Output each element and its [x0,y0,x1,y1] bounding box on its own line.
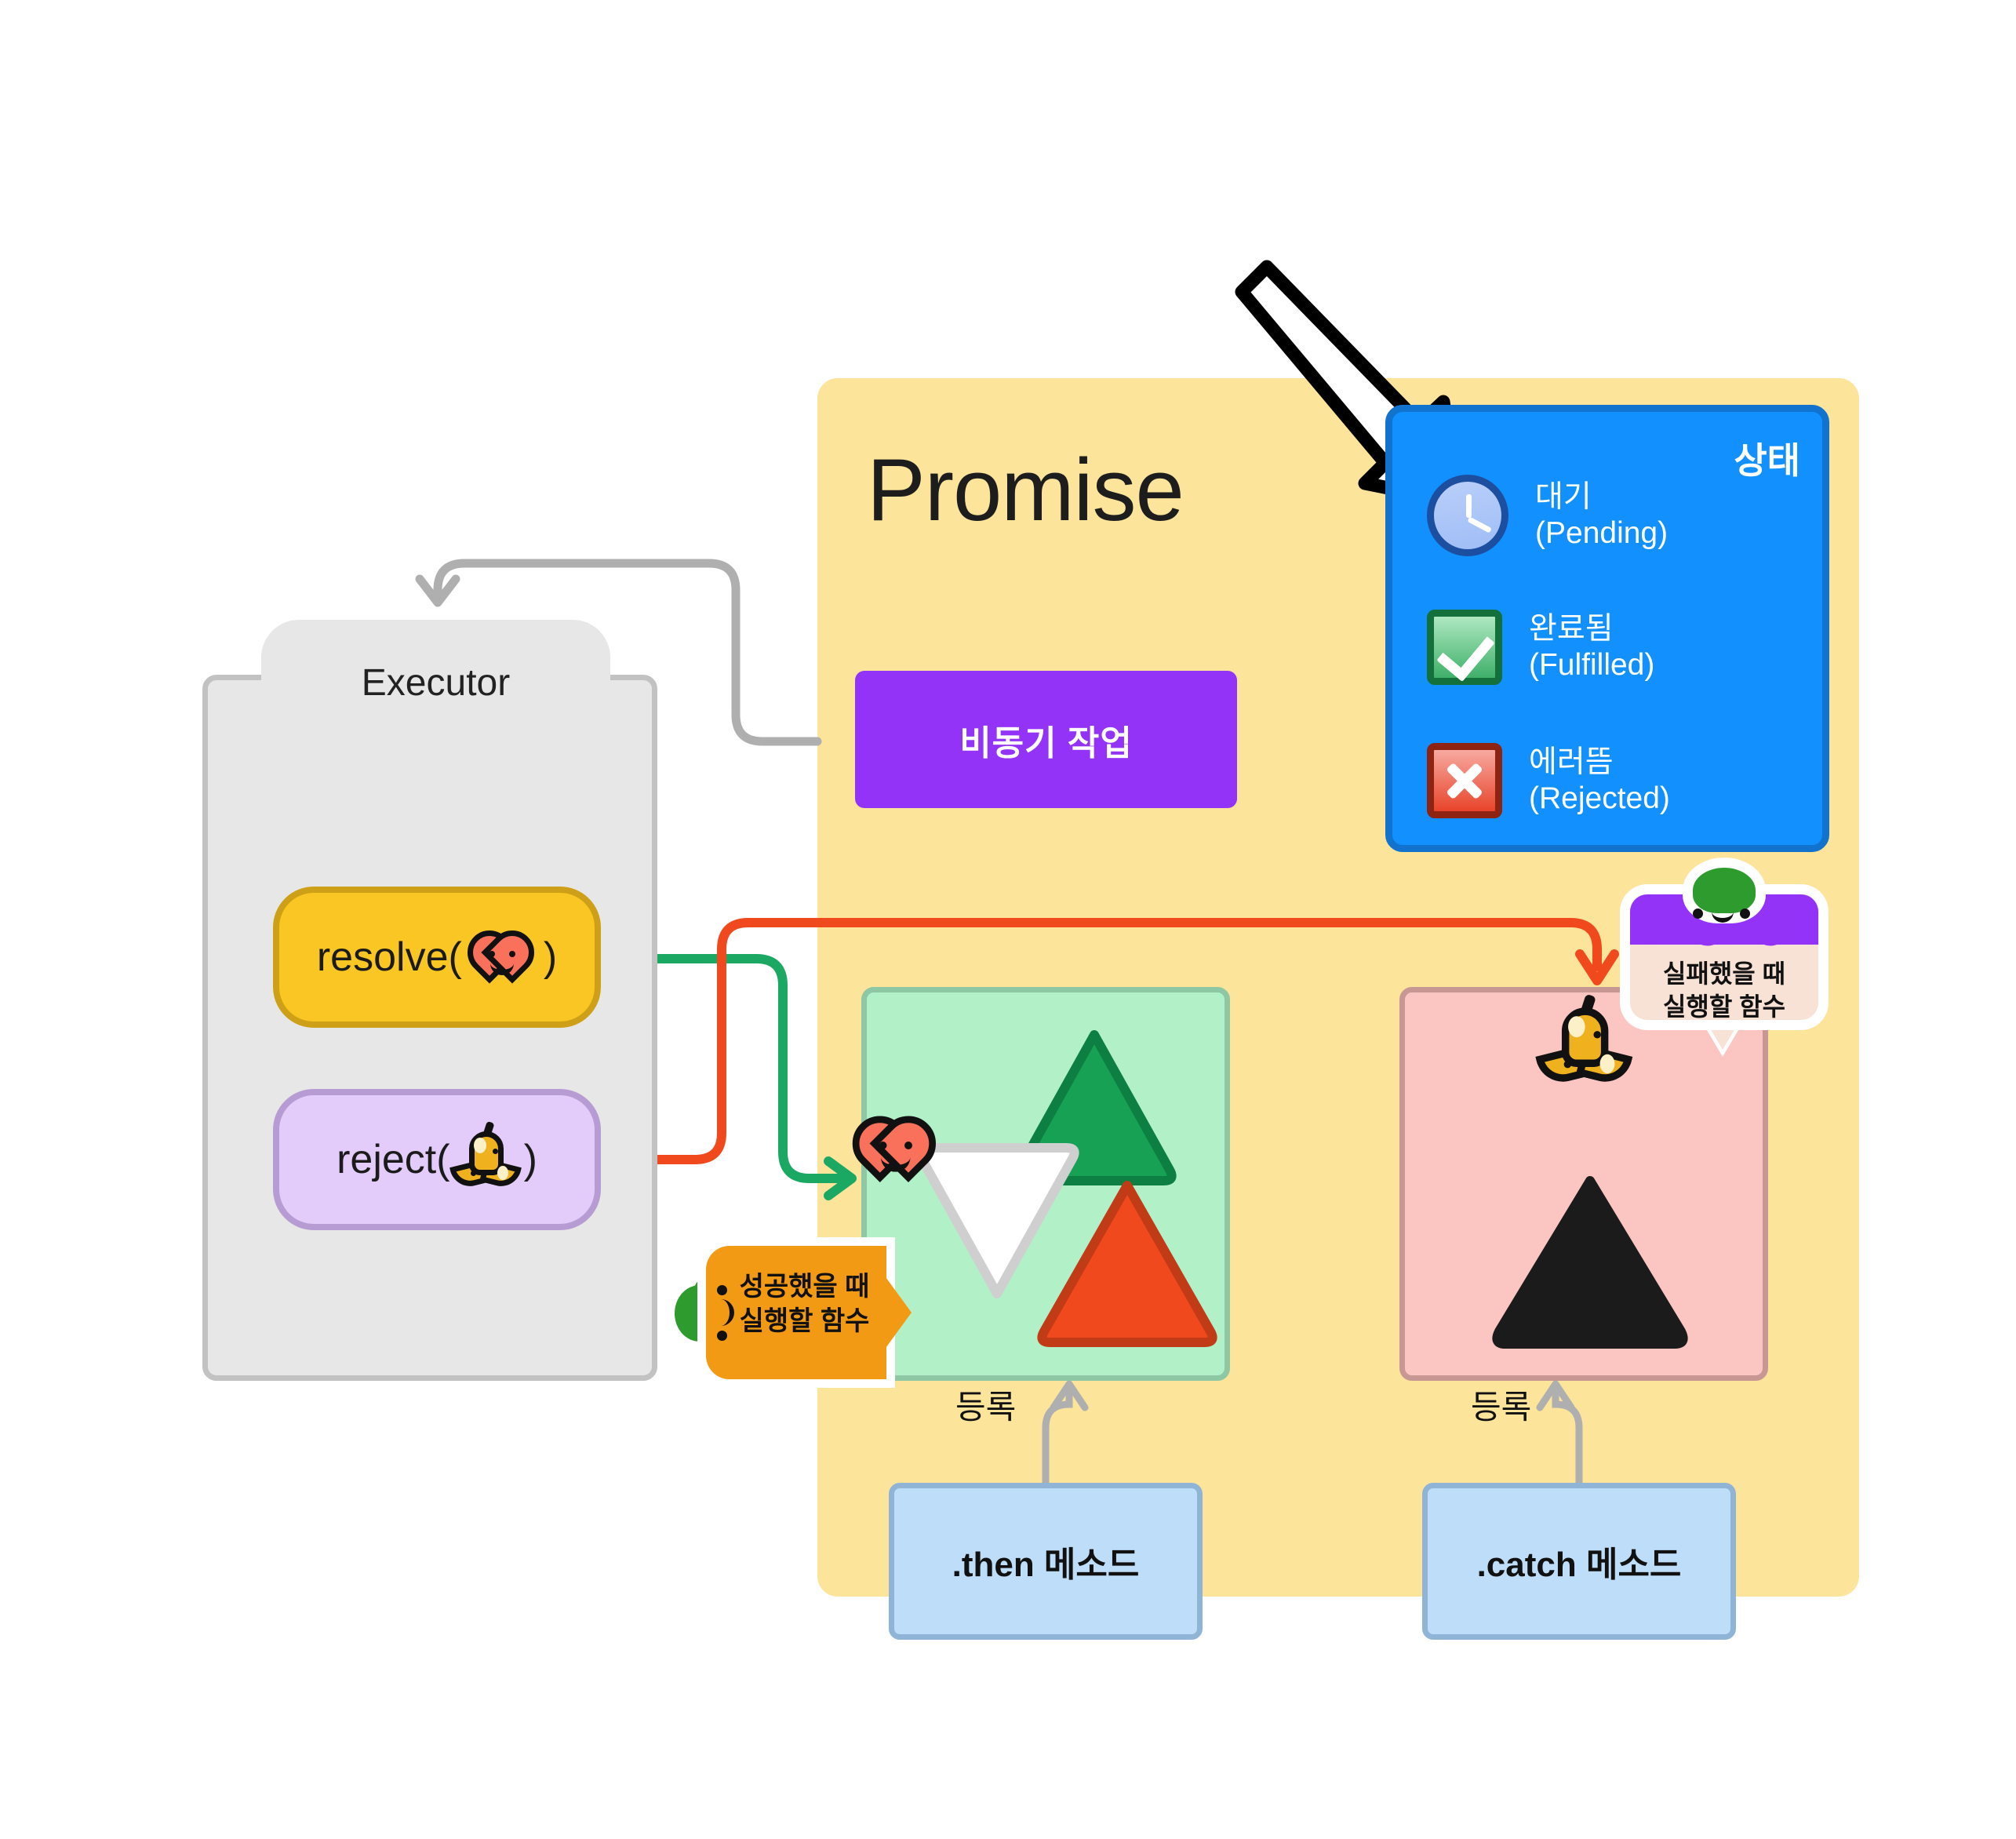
resolve-button[interactable]: resolve( ) [273,887,601,1028]
resolve-prefix: resolve( [317,934,462,981]
then-register-label: 등록 [955,1381,1016,1429]
heart-emoji [852,1109,942,1191]
clock-icon [1427,475,1508,556]
state-pending-text: 대기 (Pending) [1535,479,1668,552]
success-callout: 성공했을 때 실행할 함수 [689,1246,901,1379]
async-task-label: 비동기 작업 [959,715,1133,765]
banana-peel-emoji [453,1122,521,1197]
executor-tab: Executor [261,620,610,745]
state-row-fulfilled: 완료됨 (Fulfilled) [1427,600,1819,694]
executor-body [202,675,657,1381]
red-triangle-up-icon [1033,1174,1221,1352]
black-triangle-up-icon [1488,1171,1692,1353]
failure-callout-text: 실패했을 때 실행할 함수 [1638,957,1810,1023]
resolve-suffix: ) [544,934,557,981]
page-title: Promise [867,439,1353,541]
catch-method-box[interactable]: .catch 메소드 [1422,1483,1736,1640]
failure-callout: 실패했을 때 실행할 함수 [1630,869,1818,1034]
reject-prefix: reject( [337,1136,449,1183]
catch-method-label: .catch 메소드 [1477,1536,1682,1586]
turnip-face-icon [1693,907,1756,923]
banana-peel-emoji [1541,995,1632,1097]
state-row-pending: 대기 (Pending) [1427,468,1819,563]
state-fulfilled-text: 완료됨 (Fulfilled) [1529,611,1654,683]
diagram-canvas: Promise 비동기 작업 상태 대기 (Pending) 완료됨 (Fulf… [0,0,2016,1839]
executor-tab-label: Executor [362,661,510,705]
then-method-box[interactable]: .then 메소드 [889,1483,1203,1640]
success-callout-text: 성공했을 때 실행할 함수 [736,1269,873,1338]
state-panel: 상태 대기 (Pending) 완료됨 (Fulfilled) 에러뜸 (Rej… [1385,405,1829,852]
x-icon [1427,743,1502,818]
then-method-label: .then 메소드 [952,1536,1140,1586]
async-task-box[interactable]: 비동기 작업 [855,671,1237,808]
check-icon [1427,610,1502,685]
reject-suffix: ) [524,1136,537,1183]
reject-button[interactable]: reject( ) [273,1089,601,1230]
turnip-wave [1630,932,1818,952]
state-rejected-text: 에러뜸 (Rejected) [1529,745,1670,817]
catch-register-label: 등록 [1471,1381,1531,1429]
then-content-box [861,987,1230,1381]
heart-emoji [467,924,539,990]
state-row-rejected: 에러뜸 (Rejected) [1427,734,1819,828]
